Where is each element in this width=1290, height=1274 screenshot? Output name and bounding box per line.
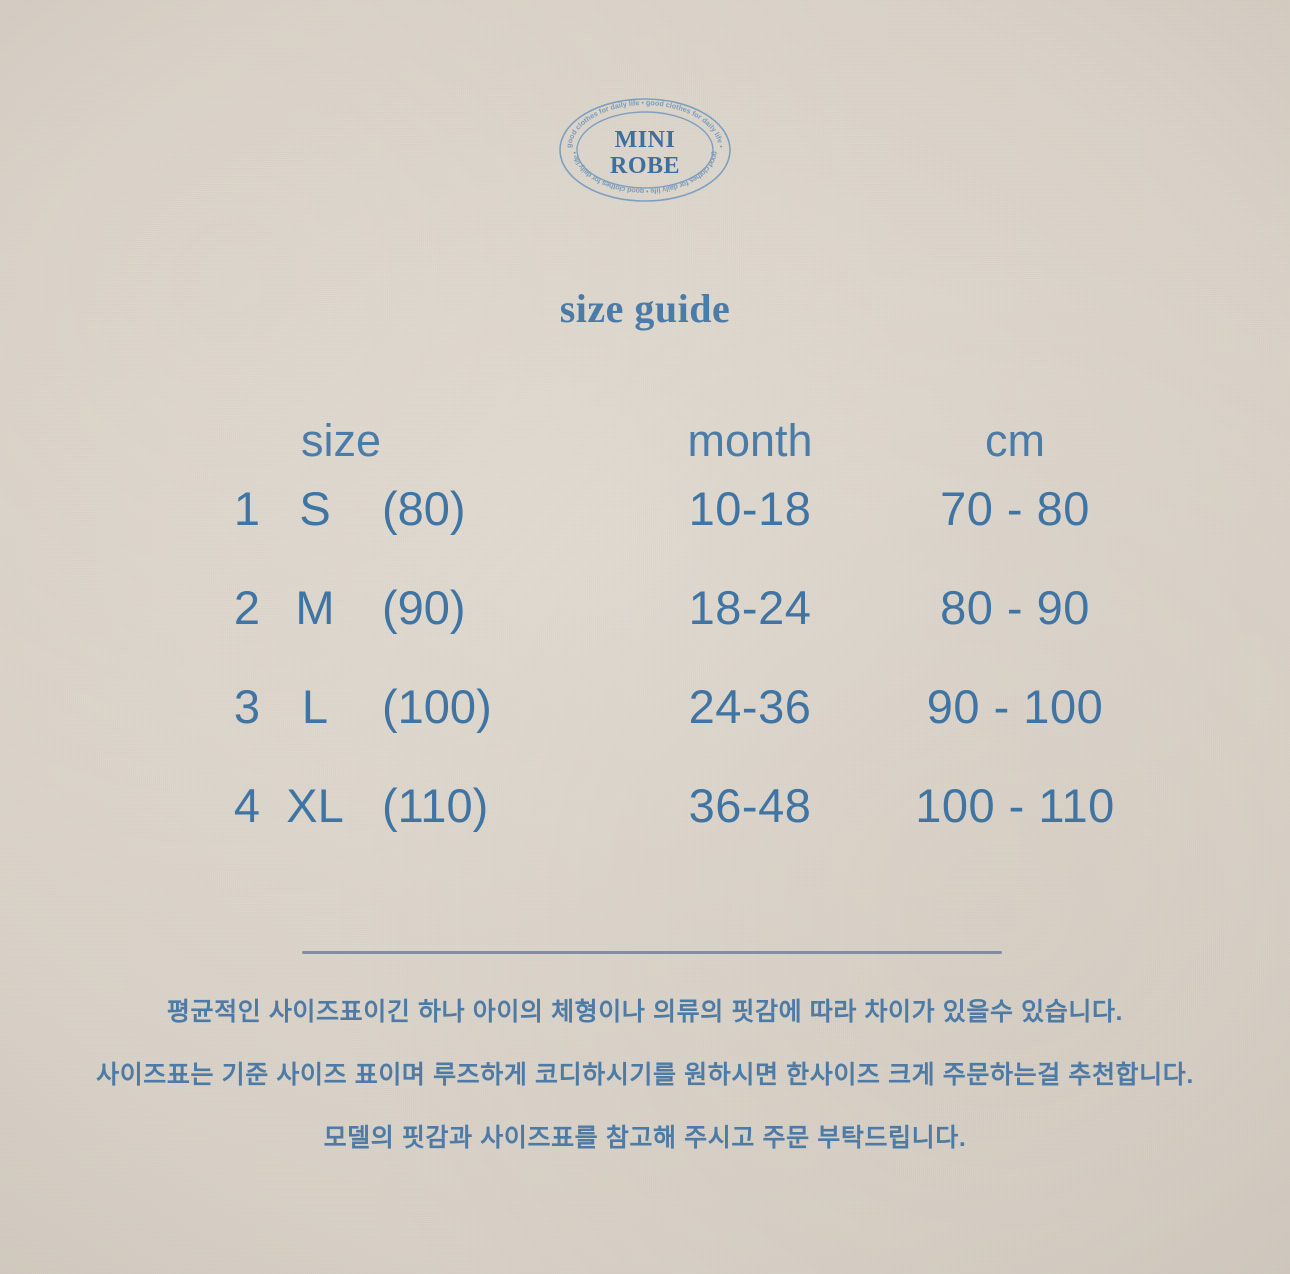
row-cm-range: 100 - 110 <box>885 778 1145 833</box>
row-month-range: 24-36 <box>615 679 885 734</box>
note-line: 모델의 핏감과 사이즈표를 참고해 주시고 주문 부탁드립니다. <box>0 1126 1290 1151</box>
row-size-group: 2 M (90) <box>145 580 615 635</box>
row-size-metric: (90) <box>370 580 550 635</box>
row-month-range: 10-18 <box>615 481 885 536</box>
row-size-metric: (110) <box>370 778 550 833</box>
row-size-letter: L <box>260 679 370 734</box>
notes-section: 평균적인 사이즈표이긴 하나 아이의 체형이나 의류의 핏감에 따라 차이가 있… <box>0 1000 1290 1151</box>
table-row: 2 M (90) 18-24 80 - 90 <box>145 580 1145 679</box>
table-row: 1 S (80) 10-18 70 - 80 <box>145 481 1145 580</box>
table-row: 3 L (100) 24-36 90 - 100 <box>145 679 1145 778</box>
note-line: 사이즈표는 기준 사이즈 표이며 루즈하게 코디하시기를 원하시면 한사이즈 크… <box>0 1063 1290 1088</box>
note-line: 평균적인 사이즈표이긴 하나 아이의 체형이나 의류의 핏감에 따라 차이가 있… <box>0 1000 1290 1025</box>
row-cm-range: 70 - 80 <box>885 481 1145 536</box>
row-month-range: 18-24 <box>615 580 885 635</box>
row-size-group: 4 XL (110) <box>145 778 615 833</box>
header-label-month: month <box>615 415 885 467</box>
logo-text-mini: MINI <box>615 127 676 153</box>
row-size-metric: (80) <box>370 481 550 536</box>
header-label-cm: cm <box>885 415 1145 467</box>
brand-logo: good clothes for daily life • good cloth… <box>0 97 1290 203</box>
section-divider <box>302 951 1002 954</box>
row-size-number: 2 <box>145 580 260 635</box>
row-size-group: 3 L (100) <box>145 679 615 734</box>
table-row: 4 XL (110) 36-48 100 - 110 <box>145 778 1145 877</box>
row-size-number: 4 <box>145 778 260 833</box>
size-guide-page: good clothes for daily life • good cloth… <box>0 0 1290 1274</box>
row-size-number: 3 <box>145 679 260 734</box>
row-size-letter: M <box>260 580 370 635</box>
row-month-range: 36-48 <box>615 778 885 833</box>
logo-stamp-icon: good clothes for daily life • good cloth… <box>557 97 733 203</box>
row-size-group: 1 S (80) <box>145 481 615 536</box>
size-table: size month cm 1 S (80) 10-18 70 - 80 2 M… <box>145 415 1145 877</box>
row-size-metric: (100) <box>370 679 550 734</box>
logo-text-robe: ROBE <box>610 153 680 179</box>
header-cell-size: size <box>145 415 615 467</box>
page-title: size guide <box>0 285 1290 332</box>
row-size-number: 1 <box>145 481 260 536</box>
table-header-row: size month cm <box>145 415 1145 481</box>
header-label-size: size <box>145 415 615 467</box>
row-cm-range: 80 - 90 <box>885 580 1145 635</box>
row-size-letter: XL <box>260 778 370 833</box>
row-size-letter: S <box>260 481 370 536</box>
row-cm-range: 90 - 100 <box>885 679 1145 734</box>
